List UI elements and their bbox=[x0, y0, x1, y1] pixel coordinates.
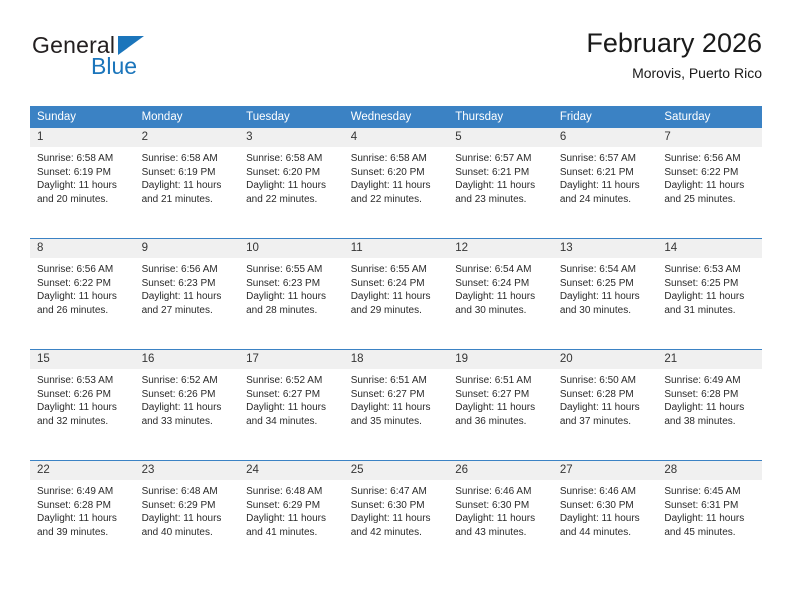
sunset-text: Sunset: 6:23 PM bbox=[142, 277, 234, 291]
sunrise-text: Sunrise: 6:49 AM bbox=[664, 374, 756, 388]
calendar-header-row: SundayMondayTuesdayWednesdayThursdayFrid… bbox=[30, 106, 762, 128]
logo-text-blue: Blue bbox=[91, 55, 137, 78]
sunset-text: Sunset: 6:28 PM bbox=[37, 499, 129, 513]
day-number: 22 bbox=[30, 461, 135, 480]
sunset-text: Sunset: 6:24 PM bbox=[351, 277, 443, 291]
daylight-text-line1: Daylight: 11 hours bbox=[246, 512, 338, 526]
calendar-day-cell[interactable]: 21Sunrise: 6:49 AMSunset: 6:28 PMDayligh… bbox=[657, 350, 762, 461]
daylight-text-line1: Daylight: 11 hours bbox=[664, 401, 756, 415]
day-cell-inner: 18Sunrise: 6:51 AMSunset: 6:27 PMDayligh… bbox=[344, 350, 449, 460]
page-title: February 2026 bbox=[586, 28, 762, 59]
day-cell-inner: 14Sunrise: 6:53 AMSunset: 6:25 PMDayligh… bbox=[657, 239, 762, 349]
sunset-text: Sunset: 6:26 PM bbox=[142, 388, 234, 402]
sunset-text: Sunset: 6:19 PM bbox=[37, 166, 129, 180]
sunrise-text: Sunrise: 6:51 AM bbox=[351, 374, 443, 388]
day-cell-inner: 19Sunrise: 6:51 AMSunset: 6:27 PMDayligh… bbox=[448, 350, 553, 460]
day-cell-inner: 28Sunrise: 6:45 AMSunset: 6:31 PMDayligh… bbox=[657, 461, 762, 571]
sunrise-text: Sunrise: 6:55 AM bbox=[351, 263, 443, 277]
daylight-text-line1: Daylight: 11 hours bbox=[560, 512, 652, 526]
daylight-text-line1: Daylight: 11 hours bbox=[37, 290, 129, 304]
day-cell-inner: 5Sunrise: 6:57 AMSunset: 6:21 PMDaylight… bbox=[448, 128, 553, 238]
daylight-text-line1: Daylight: 11 hours bbox=[246, 290, 338, 304]
daylight-text-line1: Daylight: 11 hours bbox=[142, 401, 234, 415]
daylight-text-line1: Daylight: 11 hours bbox=[455, 512, 547, 526]
sunrise-text: Sunrise: 6:53 AM bbox=[37, 374, 129, 388]
sunset-text: Sunset: 6:27 PM bbox=[455, 388, 547, 402]
daylight-text-line2: and 30 minutes. bbox=[455, 304, 547, 318]
day-cell-inner: 13Sunrise: 6:54 AMSunset: 6:25 PMDayligh… bbox=[553, 239, 658, 349]
daylight-text-line1: Daylight: 11 hours bbox=[351, 512, 443, 526]
day-details: Sunrise: 6:48 AMSunset: 6:29 PMDaylight:… bbox=[135, 480, 240, 539]
day-cell-inner: 9Sunrise: 6:56 AMSunset: 6:23 PMDaylight… bbox=[135, 239, 240, 349]
day-details: Sunrise: 6:55 AMSunset: 6:23 PMDaylight:… bbox=[239, 258, 344, 317]
calendar-day-cell[interactable]: 9Sunrise: 6:56 AMSunset: 6:23 PMDaylight… bbox=[135, 239, 240, 350]
sunrise-text: Sunrise: 6:58 AM bbox=[37, 152, 129, 166]
calendar-table: SundayMondayTuesdayWednesdayThursdayFrid… bbox=[30, 106, 762, 571]
sunrise-text: Sunrise: 6:58 AM bbox=[142, 152, 234, 166]
day-cell-inner: 25Sunrise: 6:47 AMSunset: 6:30 PMDayligh… bbox=[344, 461, 449, 571]
sunrise-text: Sunrise: 6:54 AM bbox=[455, 263, 547, 277]
day-details: Sunrise: 6:54 AMSunset: 6:24 PMDaylight:… bbox=[448, 258, 553, 317]
day-details: Sunrise: 6:57 AMSunset: 6:21 PMDaylight:… bbox=[553, 147, 658, 206]
sunset-text: Sunset: 6:20 PM bbox=[351, 166, 443, 180]
sunset-text: Sunset: 6:30 PM bbox=[455, 499, 547, 513]
day-number: 2 bbox=[135, 128, 240, 147]
sunrise-text: Sunrise: 6:56 AM bbox=[37, 263, 129, 277]
weekday-header-row: SundayMondayTuesdayWednesdayThursdayFrid… bbox=[30, 106, 762, 128]
sunset-text: Sunset: 6:30 PM bbox=[351, 499, 443, 513]
sunrise-text: Sunrise: 6:52 AM bbox=[142, 374, 234, 388]
sunset-text: Sunset: 6:19 PM bbox=[142, 166, 234, 180]
day-cell-inner: 20Sunrise: 6:50 AMSunset: 6:28 PMDayligh… bbox=[553, 350, 658, 460]
day-cell-inner: 2Sunrise: 6:58 AMSunset: 6:19 PMDaylight… bbox=[135, 128, 240, 238]
daylight-text-line1: Daylight: 11 hours bbox=[351, 401, 443, 415]
day-number: 1 bbox=[30, 128, 135, 147]
daylight-text-line1: Daylight: 11 hours bbox=[37, 179, 129, 193]
calendar-day-cell[interactable]: 10Sunrise: 6:55 AMSunset: 6:23 PMDayligh… bbox=[239, 239, 344, 350]
sunset-text: Sunset: 6:27 PM bbox=[246, 388, 338, 402]
day-details: Sunrise: 6:58 AMSunset: 6:20 PMDaylight:… bbox=[239, 147, 344, 206]
daylight-text-line1: Daylight: 11 hours bbox=[664, 290, 756, 304]
sunrise-text: Sunrise: 6:45 AM bbox=[664, 485, 756, 499]
day-details: Sunrise: 6:47 AMSunset: 6:30 PMDaylight:… bbox=[344, 480, 449, 539]
sunrise-text: Sunrise: 6:54 AM bbox=[560, 263, 652, 277]
sunrise-text: Sunrise: 6:56 AM bbox=[664, 152, 756, 166]
sunrise-text: Sunrise: 6:56 AM bbox=[142, 263, 234, 277]
daylight-text-line2: and 40 minutes. bbox=[142, 526, 234, 540]
daylight-text-line2: and 41 minutes. bbox=[246, 526, 338, 540]
day-number: 27 bbox=[553, 461, 658, 480]
day-details: Sunrise: 6:56 AMSunset: 6:22 PMDaylight:… bbox=[657, 147, 762, 206]
day-number: 28 bbox=[657, 461, 762, 480]
calendar-day-cell[interactable]: 3Sunrise: 6:58 AMSunset: 6:20 PMDaylight… bbox=[239, 128, 344, 239]
sunset-text: Sunset: 6:21 PM bbox=[560, 166, 652, 180]
day-number: 10 bbox=[239, 239, 344, 258]
daylight-text-line2: and 34 minutes. bbox=[246, 415, 338, 429]
daylight-text-line2: and 29 minutes. bbox=[351, 304, 443, 318]
calendar-day-cell[interactable]: 7Sunrise: 6:56 AMSunset: 6:22 PMDaylight… bbox=[657, 128, 762, 239]
calendar-day-cell[interactable]: 4Sunrise: 6:58 AMSunset: 6:20 PMDaylight… bbox=[344, 128, 449, 239]
day-cell-inner: 6Sunrise: 6:57 AMSunset: 6:21 PMDaylight… bbox=[553, 128, 658, 238]
calendar-day-cell[interactable]: 5Sunrise: 6:57 AMSunset: 6:21 PMDaylight… bbox=[448, 128, 553, 239]
sunset-text: Sunset: 6:22 PM bbox=[37, 277, 129, 291]
sunset-text: Sunset: 6:29 PM bbox=[142, 499, 234, 513]
weekday-header-wednesday: Wednesday bbox=[344, 106, 449, 128]
calendar-day-cell[interactable]: 28Sunrise: 6:45 AMSunset: 6:31 PMDayligh… bbox=[657, 461, 762, 572]
day-cell-inner: 22Sunrise: 6:49 AMSunset: 6:28 PMDayligh… bbox=[30, 461, 135, 571]
day-details: Sunrise: 6:53 AMSunset: 6:26 PMDaylight:… bbox=[30, 369, 135, 428]
day-number: 5 bbox=[448, 128, 553, 147]
day-cell-inner: 23Sunrise: 6:48 AMSunset: 6:29 PMDayligh… bbox=[135, 461, 240, 571]
calendar-week-row: 8Sunrise: 6:56 AMSunset: 6:22 PMDaylight… bbox=[30, 239, 762, 350]
day-details: Sunrise: 6:49 AMSunset: 6:28 PMDaylight:… bbox=[657, 369, 762, 428]
calendar-day-cell[interactable]: 1Sunrise: 6:58 AMSunset: 6:19 PMDaylight… bbox=[30, 128, 135, 239]
daylight-text-line2: and 28 minutes. bbox=[246, 304, 338, 318]
page-header: General Blue February 2026 Morovis, Puer… bbox=[30, 28, 762, 94]
day-number: 23 bbox=[135, 461, 240, 480]
daylight-text-line1: Daylight: 11 hours bbox=[560, 179, 652, 193]
sunset-text: Sunset: 6:28 PM bbox=[664, 388, 756, 402]
day-number: 4 bbox=[344, 128, 449, 147]
sunset-text: Sunset: 6:30 PM bbox=[560, 499, 652, 513]
sunrise-text: Sunrise: 6:55 AM bbox=[246, 263, 338, 277]
daylight-text-line2: and 36 minutes. bbox=[455, 415, 547, 429]
calendar-day-cell[interactable]: 14Sunrise: 6:53 AMSunset: 6:25 PMDayligh… bbox=[657, 239, 762, 350]
daylight-text-line1: Daylight: 11 hours bbox=[560, 401, 652, 415]
calendar-day-cell[interactable]: 15Sunrise: 6:53 AMSunset: 6:26 PMDayligh… bbox=[30, 350, 135, 461]
day-cell-inner: 24Sunrise: 6:48 AMSunset: 6:29 PMDayligh… bbox=[239, 461, 344, 571]
calendar-week-row: 15Sunrise: 6:53 AMSunset: 6:26 PMDayligh… bbox=[30, 350, 762, 461]
day-details: Sunrise: 6:46 AMSunset: 6:30 PMDaylight:… bbox=[553, 480, 658, 539]
day-cell-inner: 4Sunrise: 6:58 AMSunset: 6:20 PMDaylight… bbox=[344, 128, 449, 238]
title-block: February 2026 Morovis, Puerto Rico bbox=[586, 28, 762, 81]
day-cell-inner: 11Sunrise: 6:55 AMSunset: 6:24 PMDayligh… bbox=[344, 239, 449, 349]
day-cell-inner: 10Sunrise: 6:55 AMSunset: 6:23 PMDayligh… bbox=[239, 239, 344, 349]
calendar-day-cell[interactable]: 8Sunrise: 6:56 AMSunset: 6:22 PMDaylight… bbox=[30, 239, 135, 350]
daylight-text-line2: and 35 minutes. bbox=[351, 415, 443, 429]
daylight-text-line2: and 33 minutes. bbox=[142, 415, 234, 429]
calendar-day-cell[interactable]: 12Sunrise: 6:54 AMSunset: 6:24 PMDayligh… bbox=[448, 239, 553, 350]
day-number: 13 bbox=[553, 239, 658, 258]
day-cell-inner: 12Sunrise: 6:54 AMSunset: 6:24 PMDayligh… bbox=[448, 239, 553, 349]
day-number: 21 bbox=[657, 350, 762, 369]
sunset-text: Sunset: 6:22 PM bbox=[664, 166, 756, 180]
day-details: Sunrise: 6:55 AMSunset: 6:24 PMDaylight:… bbox=[344, 258, 449, 317]
daylight-text-line2: and 26 minutes. bbox=[37, 304, 129, 318]
day-number: 26 bbox=[448, 461, 553, 480]
daylight-text-line2: and 45 minutes. bbox=[664, 526, 756, 540]
daylight-text-line2: and 23 minutes. bbox=[455, 193, 547, 207]
daylight-text-line1: Daylight: 11 hours bbox=[142, 512, 234, 526]
day-cell-inner: 3Sunrise: 6:58 AMSunset: 6:20 PMDaylight… bbox=[239, 128, 344, 238]
day-cell-inner: 27Sunrise: 6:46 AMSunset: 6:30 PMDayligh… bbox=[553, 461, 658, 571]
daylight-text-line2: and 37 minutes. bbox=[560, 415, 652, 429]
sunrise-text: Sunrise: 6:47 AM bbox=[351, 485, 443, 499]
daylight-text-line2: and 24 minutes. bbox=[560, 193, 652, 207]
sunset-text: Sunset: 6:25 PM bbox=[560, 277, 652, 291]
day-cell-inner: 8Sunrise: 6:56 AMSunset: 6:22 PMDaylight… bbox=[30, 239, 135, 349]
daylight-text-line1: Daylight: 11 hours bbox=[37, 512, 129, 526]
day-details: Sunrise: 6:49 AMSunset: 6:28 PMDaylight:… bbox=[30, 480, 135, 539]
daylight-text-line2: and 22 minutes. bbox=[246, 193, 338, 207]
daylight-text-line2: and 43 minutes. bbox=[455, 526, 547, 540]
page-subtitle: Morovis, Puerto Rico bbox=[586, 65, 762, 81]
day-details: Sunrise: 6:52 AMSunset: 6:27 PMDaylight:… bbox=[239, 369, 344, 428]
day-number: 17 bbox=[239, 350, 344, 369]
daylight-text-line1: Daylight: 11 hours bbox=[351, 179, 443, 193]
day-number: 7 bbox=[657, 128, 762, 147]
day-details: Sunrise: 6:52 AMSunset: 6:26 PMDaylight:… bbox=[135, 369, 240, 428]
daylight-text-line1: Daylight: 11 hours bbox=[455, 401, 547, 415]
day-details: Sunrise: 6:46 AMSunset: 6:30 PMDaylight:… bbox=[448, 480, 553, 539]
sunset-text: Sunset: 6:26 PM bbox=[37, 388, 129, 402]
sunrise-text: Sunrise: 6:49 AM bbox=[37, 485, 129, 499]
daylight-text-line1: Daylight: 11 hours bbox=[246, 179, 338, 193]
sunrise-text: Sunrise: 6:48 AM bbox=[142, 485, 234, 499]
calendar-day-cell[interactable]: 20Sunrise: 6:50 AMSunset: 6:28 PMDayligh… bbox=[553, 350, 658, 461]
day-cell-inner: 15Sunrise: 6:53 AMSunset: 6:26 PMDayligh… bbox=[30, 350, 135, 460]
daylight-text-line1: Daylight: 11 hours bbox=[455, 290, 547, 304]
sunset-text: Sunset: 6:29 PM bbox=[246, 499, 338, 513]
day-number: 12 bbox=[448, 239, 553, 258]
sunset-text: Sunset: 6:27 PM bbox=[351, 388, 443, 402]
day-details: Sunrise: 6:51 AMSunset: 6:27 PMDaylight:… bbox=[344, 369, 449, 428]
day-details: Sunrise: 6:54 AMSunset: 6:25 PMDaylight:… bbox=[553, 258, 658, 317]
weekday-header-sunday: Sunday bbox=[30, 106, 135, 128]
day-details: Sunrise: 6:58 AMSunset: 6:20 PMDaylight:… bbox=[344, 147, 449, 206]
day-number: 3 bbox=[239, 128, 344, 147]
daylight-text-line1: Daylight: 11 hours bbox=[142, 179, 234, 193]
weekday-header-friday: Friday bbox=[553, 106, 658, 128]
calendar-day-cell[interactable]: 24Sunrise: 6:48 AMSunset: 6:29 PMDayligh… bbox=[239, 461, 344, 572]
daylight-text-line1: Daylight: 11 hours bbox=[351, 290, 443, 304]
sunset-text: Sunset: 6:21 PM bbox=[455, 166, 547, 180]
daylight-text-line1: Daylight: 11 hours bbox=[664, 512, 756, 526]
day-cell-inner: 21Sunrise: 6:49 AMSunset: 6:28 PMDayligh… bbox=[657, 350, 762, 460]
day-number: 6 bbox=[553, 128, 658, 147]
day-cell-inner: 1Sunrise: 6:58 AMSunset: 6:19 PMDaylight… bbox=[30, 128, 135, 238]
daylight-text-line2: and 30 minutes. bbox=[560, 304, 652, 318]
day-number: 11 bbox=[344, 239, 449, 258]
sunrise-text: Sunrise: 6:50 AM bbox=[560, 374, 652, 388]
day-cell-inner: 7Sunrise: 6:56 AMSunset: 6:22 PMDaylight… bbox=[657, 128, 762, 238]
day-cell-inner: 17Sunrise: 6:52 AMSunset: 6:27 PMDayligh… bbox=[239, 350, 344, 460]
calendar-grid: SundayMondayTuesdayWednesdayThursdayFrid… bbox=[30, 106, 762, 571]
calendar-page: General Blue February 2026 Morovis, Puer… bbox=[0, 0, 792, 612]
day-number: 18 bbox=[344, 350, 449, 369]
calendar-day-cell[interactable]: 26Sunrise: 6:46 AMSunset: 6:30 PMDayligh… bbox=[448, 461, 553, 572]
calendar-day-cell[interactable]: 17Sunrise: 6:52 AMSunset: 6:27 PMDayligh… bbox=[239, 350, 344, 461]
day-details: Sunrise: 6:51 AMSunset: 6:27 PMDaylight:… bbox=[448, 369, 553, 428]
calendar-day-cell[interactable]: 19Sunrise: 6:51 AMSunset: 6:27 PMDayligh… bbox=[448, 350, 553, 461]
daylight-text-line2: and 20 minutes. bbox=[37, 193, 129, 207]
day-details: Sunrise: 6:56 AMSunset: 6:23 PMDaylight:… bbox=[135, 258, 240, 317]
sunrise-text: Sunrise: 6:46 AM bbox=[560, 485, 652, 499]
sunset-text: Sunset: 6:23 PM bbox=[246, 277, 338, 291]
daylight-text-line2: and 27 minutes. bbox=[142, 304, 234, 318]
sunset-text: Sunset: 6:20 PM bbox=[246, 166, 338, 180]
calendar-day-cell[interactable]: 22Sunrise: 6:49 AMSunset: 6:28 PMDayligh… bbox=[30, 461, 135, 572]
general-blue-logo[interactable]: General Blue bbox=[30, 32, 220, 90]
calendar-day-cell[interactable]: 2Sunrise: 6:58 AMSunset: 6:19 PMDaylight… bbox=[135, 128, 240, 239]
daylight-text-line1: Daylight: 11 hours bbox=[37, 401, 129, 415]
daylight-text-line1: Daylight: 11 hours bbox=[142, 290, 234, 304]
sunrise-text: Sunrise: 6:52 AM bbox=[246, 374, 338, 388]
weekday-header-tuesday: Tuesday bbox=[239, 106, 344, 128]
calendar-day-cell[interactable]: 18Sunrise: 6:51 AMSunset: 6:27 PMDayligh… bbox=[344, 350, 449, 461]
daylight-text-line1: Daylight: 11 hours bbox=[664, 179, 756, 193]
calendar-day-cell[interactable]: 13Sunrise: 6:54 AMSunset: 6:25 PMDayligh… bbox=[553, 239, 658, 350]
daylight-text-line2: and 42 minutes. bbox=[351, 526, 443, 540]
daylight-text-line1: Daylight: 11 hours bbox=[455, 179, 547, 193]
sunset-text: Sunset: 6:31 PM bbox=[664, 499, 756, 513]
day-details: Sunrise: 6:50 AMSunset: 6:28 PMDaylight:… bbox=[553, 369, 658, 428]
daylight-text-line1: Daylight: 11 hours bbox=[246, 401, 338, 415]
sunset-text: Sunset: 6:28 PM bbox=[560, 388, 652, 402]
day-number: 9 bbox=[135, 239, 240, 258]
sunrise-text: Sunrise: 6:48 AM bbox=[246, 485, 338, 499]
sunrise-text: Sunrise: 6:58 AM bbox=[351, 152, 443, 166]
daylight-text-line2: and 39 minutes. bbox=[37, 526, 129, 540]
day-details: Sunrise: 6:48 AMSunset: 6:29 PMDaylight:… bbox=[239, 480, 344, 539]
weekday-header-saturday: Saturday bbox=[657, 106, 762, 128]
daylight-text-line2: and 21 minutes. bbox=[142, 193, 234, 207]
day-number: 8 bbox=[30, 239, 135, 258]
calendar-body: 1Sunrise: 6:58 AMSunset: 6:19 PMDaylight… bbox=[30, 128, 762, 571]
day-number: 24 bbox=[239, 461, 344, 480]
daylight-text-line2: and 44 minutes. bbox=[560, 526, 652, 540]
sunset-text: Sunset: 6:25 PM bbox=[664, 277, 756, 291]
calendar-day-cell[interactable]: 16Sunrise: 6:52 AMSunset: 6:26 PMDayligh… bbox=[135, 350, 240, 461]
daylight-text-line2: and 22 minutes. bbox=[351, 193, 443, 207]
day-number: 25 bbox=[344, 461, 449, 480]
day-details: Sunrise: 6:58 AMSunset: 6:19 PMDaylight:… bbox=[135, 147, 240, 206]
day-details: Sunrise: 6:56 AMSunset: 6:22 PMDaylight:… bbox=[30, 258, 135, 317]
sunset-text: Sunset: 6:24 PM bbox=[455, 277, 547, 291]
calendar-day-cell[interactable]: 25Sunrise: 6:47 AMSunset: 6:30 PMDayligh… bbox=[344, 461, 449, 572]
calendar-day-cell[interactable]: 11Sunrise: 6:55 AMSunset: 6:24 PMDayligh… bbox=[344, 239, 449, 350]
sunrise-text: Sunrise: 6:57 AM bbox=[560, 152, 652, 166]
day-details: Sunrise: 6:45 AMSunset: 6:31 PMDaylight:… bbox=[657, 480, 762, 539]
daylight-text-line1: Daylight: 11 hours bbox=[560, 290, 652, 304]
sunrise-text: Sunrise: 6:53 AM bbox=[664, 263, 756, 277]
day-details: Sunrise: 6:57 AMSunset: 6:21 PMDaylight:… bbox=[448, 147, 553, 206]
weekday-header-monday: Monday bbox=[135, 106, 240, 128]
calendar-week-row: 22Sunrise: 6:49 AMSunset: 6:28 PMDayligh… bbox=[30, 461, 762, 572]
day-number: 20 bbox=[553, 350, 658, 369]
calendar-week-row: 1Sunrise: 6:58 AMSunset: 6:19 PMDaylight… bbox=[30, 128, 762, 239]
sunrise-text: Sunrise: 6:51 AM bbox=[455, 374, 547, 388]
day-number: 19 bbox=[448, 350, 553, 369]
day-number: 14 bbox=[657, 239, 762, 258]
day-cell-inner: 26Sunrise: 6:46 AMSunset: 6:30 PMDayligh… bbox=[448, 461, 553, 571]
weekday-header-thursday: Thursday bbox=[448, 106, 553, 128]
sunrise-text: Sunrise: 6:57 AM bbox=[455, 152, 547, 166]
calendar-day-cell[interactable]: 23Sunrise: 6:48 AMSunset: 6:29 PMDayligh… bbox=[135, 461, 240, 572]
sunrise-text: Sunrise: 6:46 AM bbox=[455, 485, 547, 499]
sunrise-text: Sunrise: 6:58 AM bbox=[246, 152, 338, 166]
calendar-day-cell[interactable]: 27Sunrise: 6:46 AMSunset: 6:30 PMDayligh… bbox=[553, 461, 658, 572]
day-details: Sunrise: 6:53 AMSunset: 6:25 PMDaylight:… bbox=[657, 258, 762, 317]
calendar-day-cell[interactable]: 6Sunrise: 6:57 AMSunset: 6:21 PMDaylight… bbox=[553, 128, 658, 239]
day-number: 16 bbox=[135, 350, 240, 369]
day-cell-inner: 16Sunrise: 6:52 AMSunset: 6:26 PMDayligh… bbox=[135, 350, 240, 460]
day-details: Sunrise: 6:58 AMSunset: 6:19 PMDaylight:… bbox=[30, 147, 135, 206]
daylight-text-line2: and 32 minutes. bbox=[37, 415, 129, 429]
daylight-text-line2: and 38 minutes. bbox=[664, 415, 756, 429]
daylight-text-line2: and 25 minutes. bbox=[664, 193, 756, 207]
daylight-text-line2: and 31 minutes. bbox=[664, 304, 756, 318]
day-number: 15 bbox=[30, 350, 135, 369]
